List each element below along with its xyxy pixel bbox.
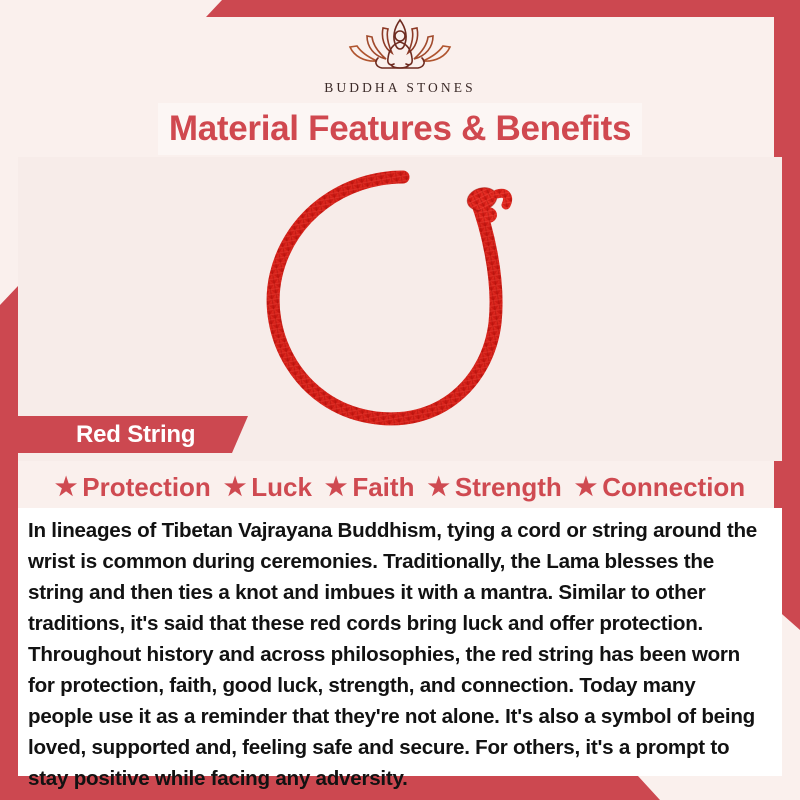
benefit-label: Protection [82,472,211,503]
benefit-label: Faith [352,472,414,503]
benefit-label: Luck [251,472,312,503]
left-red-stripe [0,286,18,800]
page-title: Material Features & Benefits [169,109,631,149]
benefit-item-strength: ★ Strength [427,472,561,503]
brand-name: BUDDHA STONES [324,80,475,96]
product-name-banner: Red String [18,416,248,453]
title-banner: Material Features & Benefits [158,103,642,155]
benefit-item-connection: ★ Connection [575,472,745,503]
benefits-list: ★ Protection ★ Luck ★ Faith ★ Strength ★… [18,466,782,508]
benefit-item-protection: ★ Protection [55,472,211,503]
lotus-meditation-icon [336,14,464,76]
star-icon: ★ [325,475,347,500]
star-icon: ★ [575,475,597,500]
product-name-label: Red String [76,421,195,449]
description-card: In lineages of Tibetan Vajrayana Buddhis… [18,508,782,776]
star-icon: ★ [224,475,246,500]
description-text: In lineages of Tibetan Vajrayana Buddhis… [18,508,782,794]
benefit-label: Connection [602,472,745,503]
star-icon: ★ [427,475,449,500]
brand-logo: BUDDHA STONES [0,14,800,96]
red-string-bracelet-image [248,163,568,443]
benefit-item-luck: ★ Luck [224,472,312,503]
star-icon: ★ [55,475,77,500]
infographic-card: BUDDHA STONES Material Features & Benefi… [0,0,800,800]
product-image-area [18,157,782,461]
benefit-item-faith: ★ Faith [325,472,415,503]
benefit-label: Strength [455,472,562,503]
